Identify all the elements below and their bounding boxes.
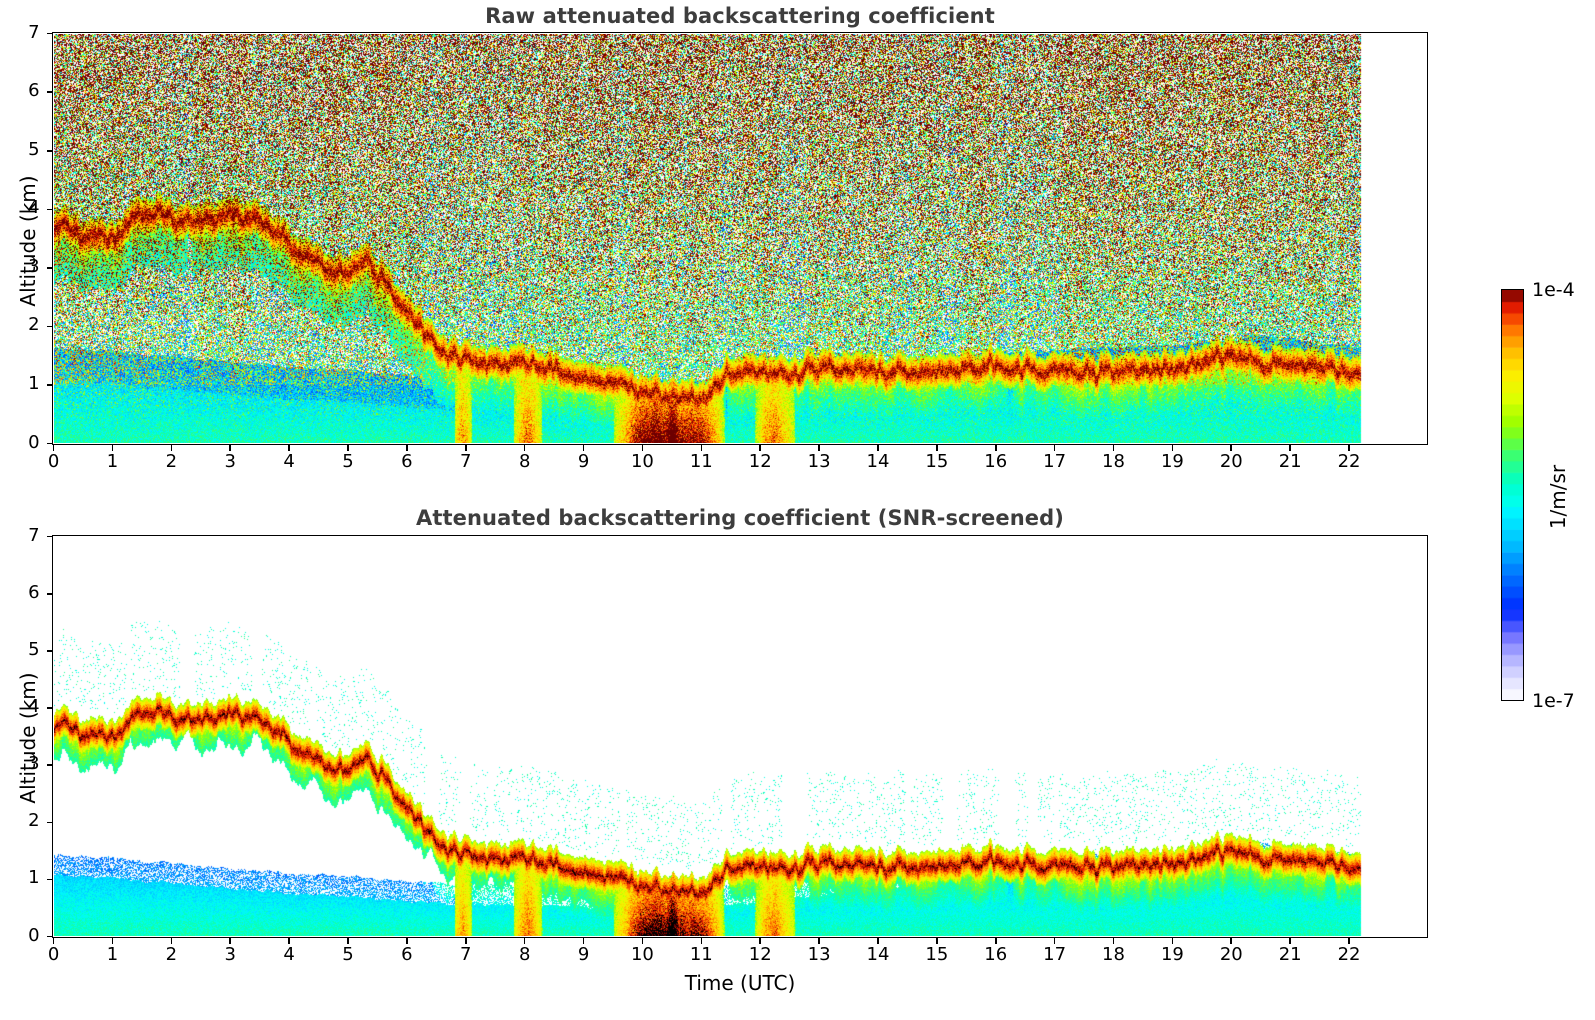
y-tick	[47, 91, 53, 93]
colorbar-max-label: 1e-4	[1532, 279, 1575, 301]
colorbar-min-label: 1e-7	[1532, 690, 1575, 712]
y-tick-label: 3	[0, 753, 40, 774]
panel-screened-xlabel: Time (UTC)	[52, 971, 1428, 995]
x-tick-label: 12	[736, 944, 784, 965]
x-tick-label: 11	[677, 944, 725, 965]
y-tick-label: 2	[0, 314, 40, 335]
x-tick-label: 0	[30, 944, 78, 965]
y-tick-label: 0	[0, 925, 40, 946]
panel-raw-plot-area[interactable]	[54, 34, 1426, 444]
y-tick	[47, 764, 53, 766]
y-tick	[47, 879, 53, 881]
y-tick	[47, 593, 53, 595]
x-tick-label: 20	[1207, 451, 1255, 472]
x-tick-label: 12	[736, 451, 784, 472]
x-tick-label: 5	[324, 451, 372, 472]
y-tick-label: 4	[0, 696, 40, 717]
y-tick	[47, 150, 53, 152]
x-tick-label: 10	[618, 944, 666, 965]
x-tick-label: 15	[913, 451, 961, 472]
x-tick-label: 16	[972, 944, 1020, 965]
x-tick-label: 11	[677, 451, 725, 472]
x-tick-label: 21	[1266, 944, 1314, 965]
x-tick-label: 3	[206, 944, 254, 965]
panel-raw-ylabel: Altitude (km)	[16, 161, 40, 321]
x-tick-label: 2	[147, 944, 195, 965]
y-tick-label: 1	[0, 867, 40, 888]
panel-raw-title: Raw attenuated backscattering coefficien…	[52, 4, 1428, 28]
x-tick-label: 19	[1148, 944, 1196, 965]
y-tick	[47, 650, 53, 652]
panel-screened-ylabel: Altitude (km)	[16, 658, 40, 818]
y-tick	[47, 267, 53, 269]
colorbar-unit-label: 1/m/sr	[1546, 437, 1570, 557]
x-tick-label: 9	[560, 944, 608, 965]
x-tick-label: 22	[1325, 944, 1373, 965]
y-tick	[47, 936, 53, 938]
screened-backscatter-heatmap	[54, 537, 1426, 937]
panel-screened-title: Attenuated backscattering coefficient (S…	[52, 506, 1428, 530]
y-tick-label: 7	[0, 22, 40, 43]
x-tick-label: 21	[1266, 451, 1314, 472]
y-tick-label: 1	[0, 373, 40, 394]
y-tick-label: 2	[0, 810, 40, 831]
x-tick-label: 7	[442, 944, 490, 965]
y-tick	[47, 326, 53, 328]
x-tick-label: 20	[1207, 944, 1255, 965]
y-tick	[47, 209, 53, 211]
y-tick-label: 7	[0, 525, 40, 546]
x-tick-label: 6	[383, 944, 431, 965]
colorbar-gradient	[1501, 289, 1524, 701]
x-tick-label: 0	[30, 451, 78, 472]
y-tick-label: 6	[0, 582, 40, 603]
x-tick-label: 8	[501, 451, 549, 472]
x-tick-label: 2	[147, 451, 195, 472]
x-tick-label: 5	[324, 944, 372, 965]
x-tick-label: 10	[618, 451, 666, 472]
y-tick-label: 5	[0, 639, 40, 660]
y-tick-label: 5	[0, 139, 40, 160]
x-tick-label: 9	[560, 451, 608, 472]
y-tick	[47, 384, 53, 386]
x-tick-label: 16	[972, 451, 1020, 472]
x-tick-label: 22	[1325, 451, 1373, 472]
x-tick-label: 18	[1090, 451, 1138, 472]
x-tick-label: 18	[1090, 944, 1138, 965]
y-tick-label: 4	[0, 197, 40, 218]
y-tick	[47, 536, 53, 538]
y-tick	[47, 707, 53, 709]
panel-screened-plot-area[interactable]	[54, 537, 1426, 937]
y-tick-label: 3	[0, 256, 40, 277]
x-tick-label: 6	[383, 451, 431, 472]
raw-backscatter-heatmap	[54, 34, 1426, 444]
x-tick-label: 7	[442, 451, 490, 472]
x-tick-label: 13	[795, 451, 843, 472]
x-tick-label: 14	[854, 451, 902, 472]
x-tick-label: 17	[1031, 944, 1079, 965]
x-tick-label: 3	[206, 451, 254, 472]
y-tick	[47, 33, 53, 35]
y-tick	[47, 822, 53, 824]
x-tick-label: 4	[265, 944, 313, 965]
x-tick-label: 8	[501, 944, 549, 965]
x-tick-label: 15	[913, 944, 961, 965]
x-tick-label: 17	[1031, 451, 1079, 472]
x-tick-label: 4	[265, 451, 313, 472]
x-tick-label: 1	[88, 944, 136, 965]
y-tick-label: 6	[0, 80, 40, 101]
x-tick-label: 19	[1148, 451, 1196, 472]
y-tick	[47, 443, 53, 445]
x-tick-label: 1	[88, 451, 136, 472]
x-tick-label: 13	[795, 944, 843, 965]
x-tick-label: 14	[854, 944, 902, 965]
y-tick-label: 0	[0, 432, 40, 453]
